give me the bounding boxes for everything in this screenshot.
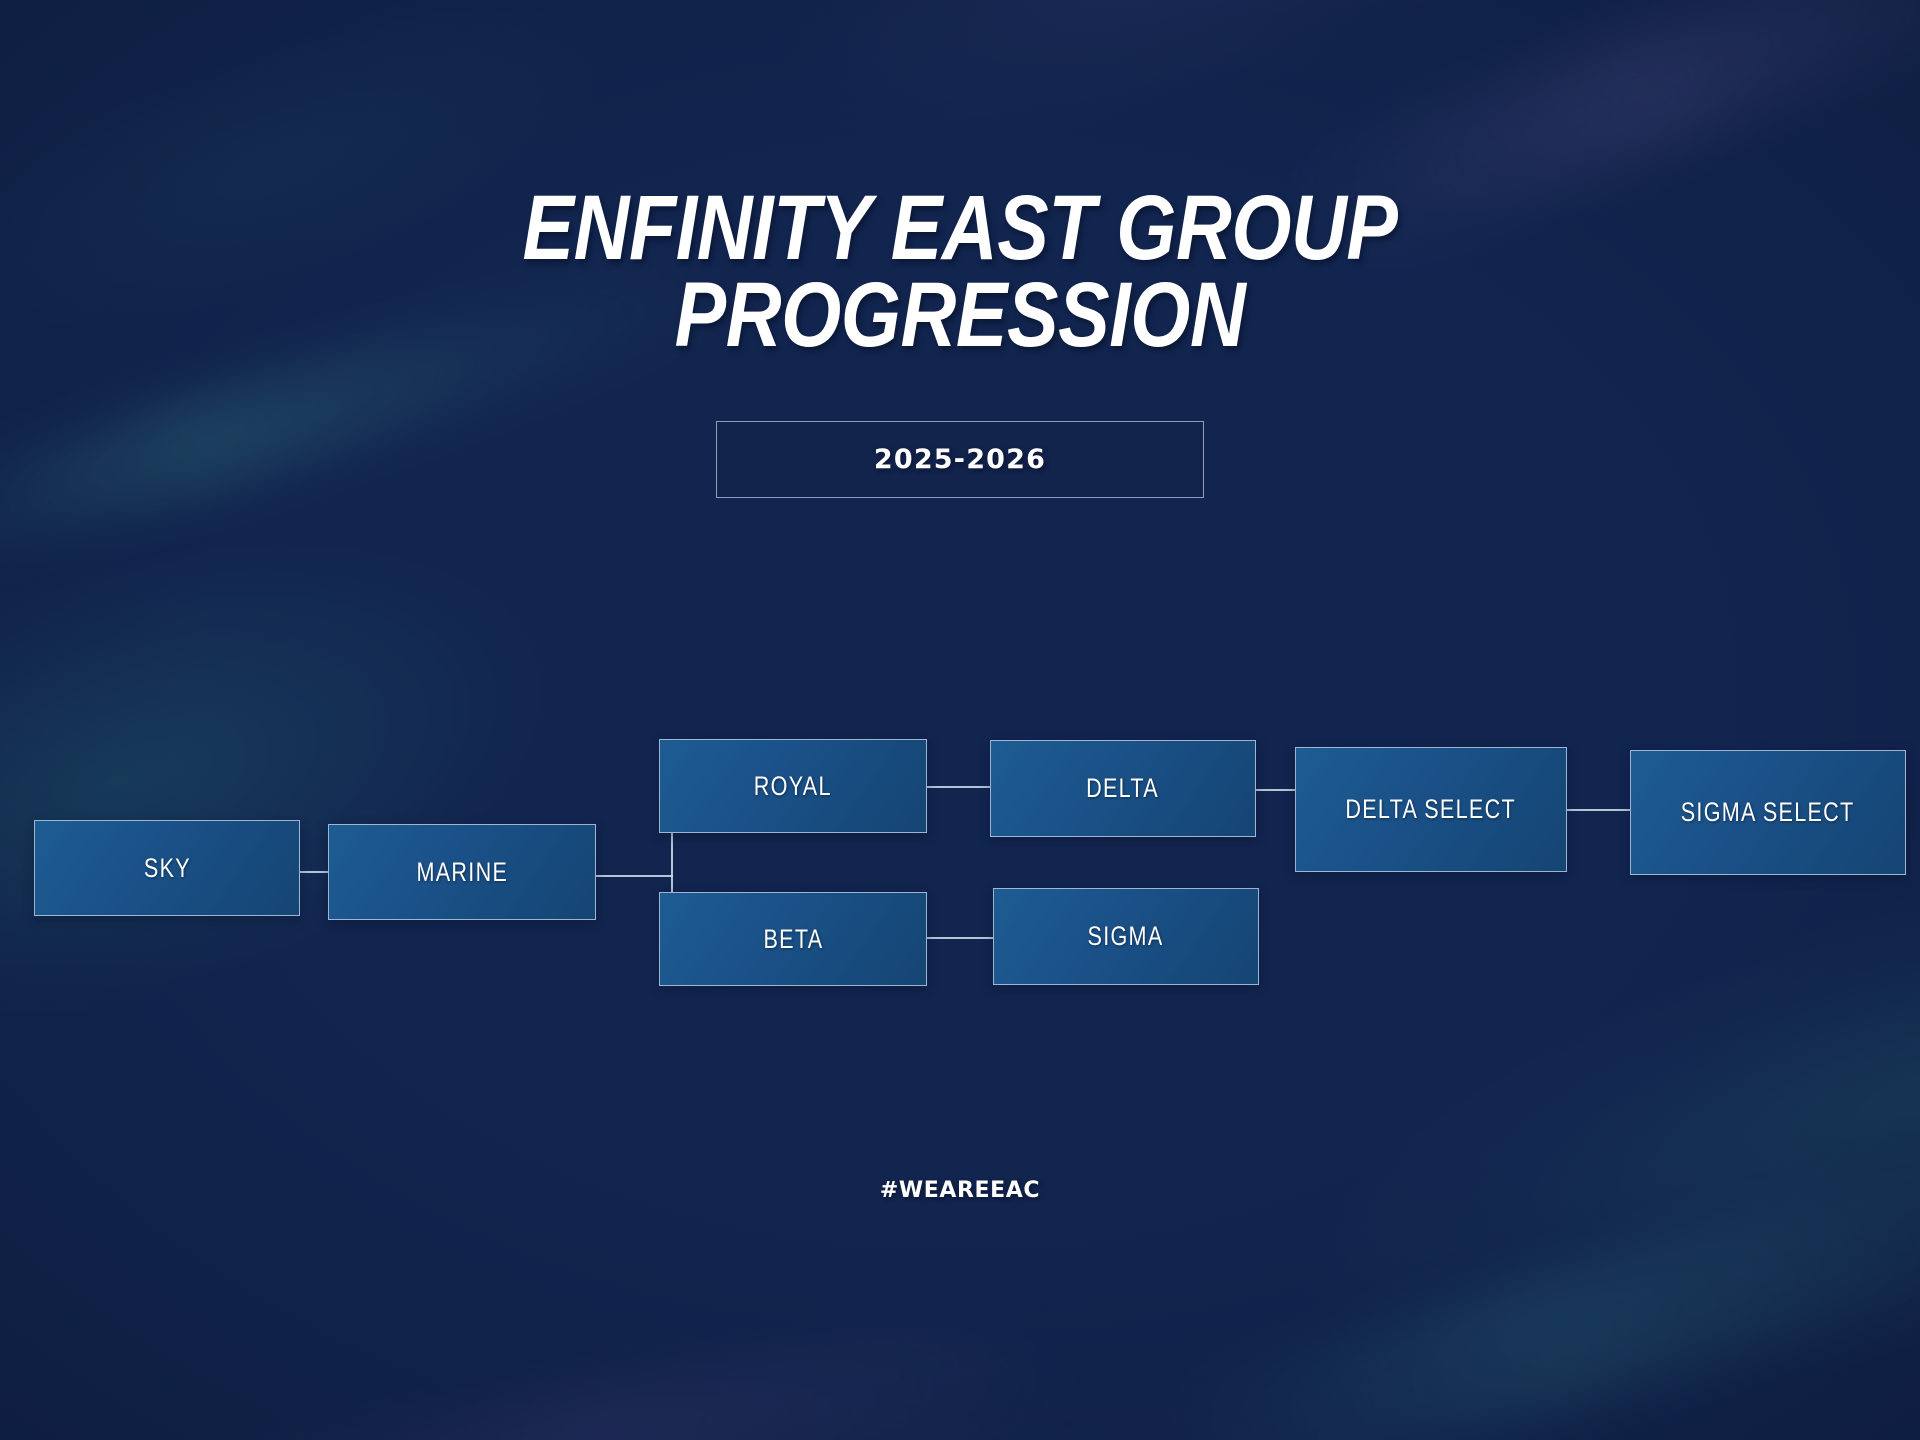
bracket-node-marine[interactable]: MARINE xyxy=(328,824,596,920)
bracket-node-label: SKY xyxy=(143,853,190,884)
bracket-node-label: BETA xyxy=(763,924,823,955)
bracket-node-delta-select[interactable]: DELTA SELECT xyxy=(1295,747,1567,872)
bracket-node-sigma[interactable]: SIGMA xyxy=(993,888,1259,985)
connector-marine-split xyxy=(596,875,673,877)
bracket-node-label: DELTA xyxy=(1087,773,1160,804)
bracket-node-label: MARINE xyxy=(416,857,508,888)
connector-royal-delta xyxy=(927,786,991,788)
bracket-node-beta[interactable]: BETA xyxy=(659,892,927,986)
bracket-diagram: SKYMARINEROYALBETADELTASIGMADELTA SELECT… xyxy=(0,0,1920,1440)
bracket-node-label: DELTA SELECT xyxy=(1346,794,1517,825)
bracket-graphic: ENFINITY EAST GROUP PROGRESSION 2025-202… xyxy=(0,0,1920,1440)
connector-deltaselect-sigmasel xyxy=(1567,809,1631,811)
bracket-node-sky[interactable]: SKY xyxy=(34,820,300,916)
connector-split-vertical xyxy=(671,831,673,893)
bracket-node-royal[interactable]: ROYAL xyxy=(659,739,927,833)
bracket-node-sigma-select[interactable]: SIGMA SELECT xyxy=(1630,750,1906,875)
hashtag: #WEAREEAC xyxy=(0,1178,1920,1203)
bracket-node-label: SIGMA xyxy=(1088,921,1164,952)
connector-beta-sigma xyxy=(927,937,994,939)
connector-delta-deltaselect xyxy=(1256,789,1296,791)
bracket-node-label: SIGMA SELECT xyxy=(1681,797,1855,828)
bracket-node-delta[interactable]: DELTA xyxy=(990,740,1256,837)
connector-sky-marine xyxy=(300,871,328,873)
bracket-node-label: ROYAL xyxy=(754,771,832,802)
